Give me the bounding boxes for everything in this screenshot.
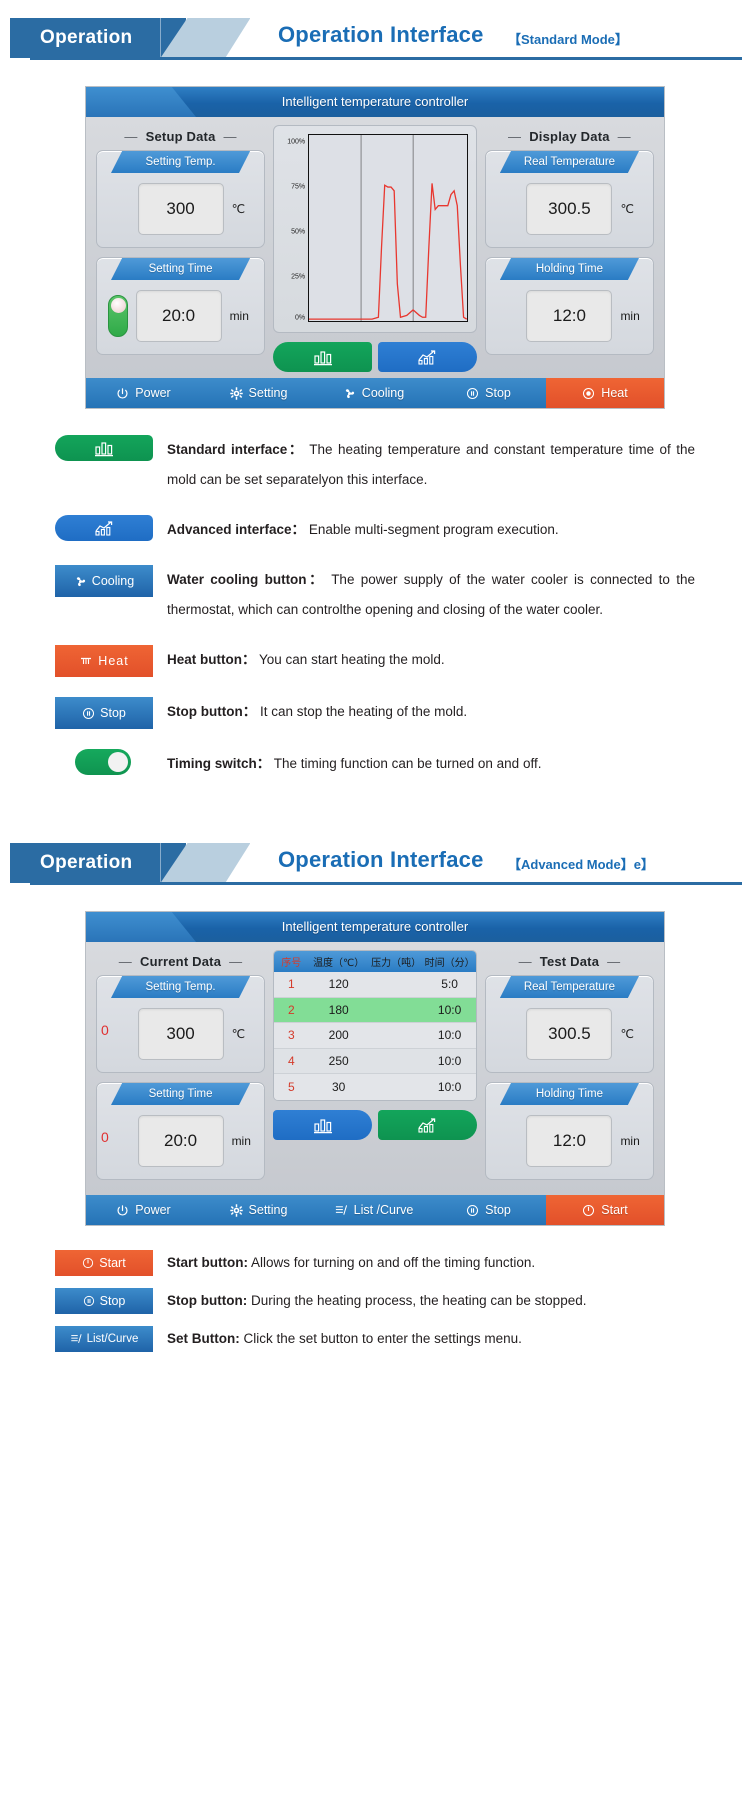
toolbar-stop-button[interactable]: Stop: [431, 378, 546, 408]
program-row-time: 10:0: [423, 1028, 475, 1042]
advanced-view-button-2[interactable]: [378, 1110, 477, 1140]
section-header-advanced: Operation Operation Interface 【Advanced …: [0, 837, 750, 889]
program-row-temp: 250: [308, 1054, 369, 1068]
legend-row-cooling: Cooling Water cooling button： The power …: [55, 565, 695, 625]
legend-body-stop-2: During the heating process, the heating …: [251, 1293, 586, 1308]
section-title: Operation Interface: [278, 22, 484, 48]
device-titlebar: Intelligent temperature controller: [86, 87, 664, 117]
setting-temp-value[interactable]: 300: [138, 183, 224, 235]
col-header-temp: 温度（℃）: [308, 954, 369, 969]
holding-time-card-2: Holding Time 12:0 min: [485, 1082, 654, 1180]
dash-right-3: —: [221, 954, 250, 969]
dash-left: —: [116, 129, 145, 144]
test-data-text: Test Data: [540, 954, 599, 969]
section-rule-2: [30, 882, 742, 885]
heat-icon: [79, 655, 93, 667]
gear-icon: [230, 387, 243, 400]
chart-mode-buttons: [273, 342, 477, 372]
table-row[interactable]: 320010:0: [274, 1023, 476, 1049]
toolbar-stop-label: Stop: [485, 386, 511, 400]
program-table-column: 序号 温度（℃） 压力（吨） 时间（分） 11205:0218010:03200…: [273, 950, 477, 1140]
stop-button-label-2: Stop: [100, 1294, 126, 1308]
holding-time-row-2: 12:0 min: [486, 1105, 653, 1169]
section-tag-wrap-2: Operation: [10, 843, 250, 883]
mode-main-2: 【Advanced Mode】: [508, 857, 634, 872]
real-temp-label-2: Real Temperature: [500, 976, 639, 998]
real-temp-row-2: 300.5 ℃: [486, 998, 653, 1062]
legend-body-heat: You can start heating the mold.: [259, 652, 445, 667]
toolbar-list-curve-label: List /Curve: [354, 1203, 414, 1217]
legend-badge-timing: [55, 749, 153, 775]
holding-time-unit-2: min: [620, 1134, 644, 1148]
chart-card: 100% 75% 50% 25% 0%: [273, 125, 477, 333]
dash-right-2: —: [610, 129, 639, 144]
holding-time-row: 12:0 min: [486, 280, 653, 344]
legend-text-heat: Heat button： You can start heating the m…: [167, 645, 695, 675]
legend-text-start: Start button: Allows for turning on and …: [167, 1250, 695, 1276]
toolbar-stop-button-2[interactable]: Stop: [431, 1195, 546, 1225]
stop-button-sample[interactable]: Stop: [55, 697, 153, 729]
start-button-label: Start: [99, 1256, 125, 1270]
setting-temp-prefix: 0: [101, 1022, 109, 1038]
start-icon: [582, 1204, 595, 1217]
program-row-no: 2: [274, 1003, 308, 1017]
dash-left-2: —: [500, 129, 529, 144]
chart-y-axis: 100% 75% 50% 25% 0%: [280, 134, 308, 322]
legend-row-start: Start Start button: Allows for turning o…: [55, 1250, 695, 1276]
toolbar-heat-label: Heat: [601, 386, 627, 400]
program-row-temp: 200: [308, 1028, 369, 1042]
legend-text-standard: Standard interface： The heating temperat…: [167, 435, 695, 495]
real-temp-card: Real Temperature 300.5 ℃: [485, 150, 654, 248]
chart-mode-buttons-2: [273, 1110, 477, 1140]
col-header-time: 时间（分）: [423, 954, 475, 969]
current-data-text: Current Data: [140, 954, 221, 969]
pause-icon: [83, 1295, 95, 1307]
setting-temp-label-2: Setting Temp.: [111, 976, 250, 998]
legend-body-advanced: Enable multi-segment program execution.: [309, 522, 559, 537]
toolbar-list-curve-button[interactable]: List /Curve: [316, 1195, 431, 1225]
display-data-text: Display Data: [529, 129, 609, 144]
legend-body-list-curve: Click the set button to enter the settin…: [244, 1331, 522, 1346]
legend-row-standard-interface: Standard interface： The heating temperat…: [55, 435, 695, 495]
device-toolbar-advanced: Power Setting: [86, 1195, 664, 1225]
real-temp-value-2: 300.5: [526, 1008, 612, 1060]
toolbar-cooling-button[interactable]: Cooling: [316, 378, 431, 408]
device-title-text-2: Intelligent temperature controller: [86, 912, 664, 942]
program-row-time: 10:0: [423, 1003, 475, 1017]
program-row-no: 5: [274, 1080, 308, 1094]
setup-data-text: Setup Data: [146, 129, 216, 144]
setting-temp-unit: ℃: [232, 202, 256, 216]
timing-toggle[interactable]: [108, 295, 128, 337]
toolbar-start-label: Start: [601, 1203, 627, 1217]
setting-time-unit-2: min: [232, 1134, 256, 1148]
test-data-column: —Test Data— Real Temperature 300.5 ℃ Hol…: [485, 950, 654, 1189]
mode-extra-2: e】: [634, 857, 654, 872]
legend-title-advanced: Advanced interface：: [167, 522, 305, 537]
trend-chart-icon: [93, 519, 115, 537]
program-table: 序号 温度（℃） 压力（吨） 时间（分） 11205:0218010:03200…: [273, 950, 477, 1101]
dash-left-4: —: [511, 954, 540, 969]
legend-badge-stop: Stop: [55, 697, 153, 729]
toolbar-power-label: Power: [135, 386, 170, 400]
bar-chart-icon: [312, 348, 334, 366]
setting-temp-label: Setting Temp.: [111, 151, 250, 173]
program-row-no: 4: [274, 1054, 308, 1068]
heat-button-sample[interactable]: Heat: [55, 645, 153, 677]
program-row-temp: 30: [308, 1080, 369, 1094]
setup-data-label: —Setup Data—: [96, 125, 265, 150]
toolbar-setting-button-2[interactable]: Setting: [201, 1195, 316, 1225]
y-tick-0: 0%: [295, 315, 305, 322]
current-data-label: —Current Data—: [96, 950, 265, 975]
setting-temp-unit-2: ℃: [232, 1027, 256, 1041]
device-panel-advanced: Intelligent temperature controller —Curr…: [85, 911, 665, 1226]
advanced-interface-pill[interactable]: [55, 515, 153, 541]
setting-temp-card-2[interactable]: Setting Temp. 0 300 ℃: [96, 975, 265, 1073]
legend-text-stop-2: Stop button: During the heating process,…: [167, 1288, 695, 1314]
chart-column: 100% 75% 50% 25% 0%: [273, 125, 477, 372]
legend-badge-standard: [55, 435, 153, 461]
legend-text-cooling: Water cooling button： The power supply o…: [167, 565, 695, 625]
list-curve-icon: [334, 1204, 348, 1217]
y-tick-50: 50%: [291, 228, 305, 235]
test-data-label: —Test Data—: [485, 950, 654, 975]
legend-title-start: Start button:: [167, 1255, 248, 1270]
list-curve-button-label: List/Curve: [87, 1333, 139, 1345]
device-titlebar-2: Intelligent temperature controller: [86, 912, 664, 942]
col-header-no: 序号: [274, 954, 308, 969]
holding-time-unit: min: [620, 309, 644, 323]
display-data-column: —Display Data— Real Temperature 300.5 ℃ …: [485, 125, 654, 364]
cooling-button-sample[interactable]: Cooling: [55, 565, 153, 597]
section-rule: [30, 57, 742, 60]
y-tick-25: 25%: [291, 273, 305, 280]
y-tick-75: 75%: [291, 183, 305, 190]
gear-icon: [230, 1204, 243, 1217]
real-temp-row: 300.5 ℃: [486, 173, 653, 237]
heat-icon: [582, 387, 595, 400]
temperature-series: [309, 183, 467, 319]
program-row-temp: 180: [308, 1003, 369, 1017]
program-row-no: 1: [274, 977, 308, 991]
start-icon: [82, 1257, 94, 1269]
device-body-2: —Current Data— Setting Temp. 0 300 ℃ Set…: [86, 942, 664, 1195]
program-table-body: 11205:0218010:0320010:0425010:053010:0: [274, 972, 476, 1100]
page-root: Operation Operation Interface 【Standard …: [0, 12, 750, 1404]
power-icon: [116, 1204, 129, 1217]
chart-svg: [309, 135, 467, 321]
legend-title-list-curve: Set Button:: [167, 1331, 240, 1346]
toolbar-start-button[interactable]: Start: [546, 1195, 664, 1225]
toolbar-stop-label-2: Stop: [485, 1203, 511, 1217]
legend-badge-advanced: [55, 515, 153, 541]
holding-time-value: 12:0: [526, 290, 612, 342]
legend-list-advanced: Start Start button: Allows for turning o…: [55, 1250, 695, 1352]
standard-view-button[interactable]: [273, 342, 372, 372]
legend-text-list-curve: Set Button: Click the set button to ente…: [167, 1326, 695, 1352]
fan-icon: [74, 575, 87, 588]
real-temp-value: 300.5: [526, 183, 612, 235]
toolbar-power-button-2[interactable]: Power: [86, 1195, 201, 1225]
setting-time-label: Setting Time: [111, 258, 250, 280]
trend-chart-icon: [416, 1116, 438, 1134]
setting-time-card[interactable]: Setting Time 20:0 min: [96, 257, 265, 355]
standard-view-button-2[interactable]: [273, 1110, 372, 1140]
table-row[interactable]: 11205:0: [274, 972, 476, 998]
device-toolbar-standard: Power Setting: [86, 378, 664, 408]
program-row-time: 5:0: [423, 977, 475, 991]
heat-button-label: Heat: [98, 654, 128, 668]
legend-body-stop: It can stop the heating of the mold.: [260, 704, 467, 719]
device-title-text: Intelligent temperature controller: [86, 87, 664, 117]
setting-time-label-2: Setting Time: [111, 1083, 250, 1105]
setting-temp-row-2: 0 300 ℃: [97, 998, 264, 1062]
toolbar-power-label-2: Power: [135, 1203, 170, 1217]
legend-row-advanced-interface: Advanced interface： Enable multi-segment…: [55, 515, 695, 545]
legend-row-list-curve: List/Curve Set Button: Click the set but…: [55, 1326, 695, 1352]
standard-interface-pill[interactable]: [55, 435, 153, 461]
legend-body-timing: The timing function can be turned on and…: [274, 756, 542, 771]
section-title-2: Operation Interface: [278, 847, 484, 873]
legend-row-stop-2: Stop Stop button: During the heating pro…: [55, 1288, 695, 1314]
legend-title-heat: Heat button：: [167, 652, 256, 667]
toolbar-setting-label: Setting: [249, 386, 288, 400]
real-temp-unit-2: ℃: [620, 1027, 644, 1041]
setting-time-prefix: 0: [101, 1129, 109, 1145]
section-header-standard: Operation Operation Interface 【Standard …: [0, 12, 750, 64]
holding-time-card: Holding Time 12:0 min: [485, 257, 654, 355]
trend-chart-icon: [416, 348, 438, 366]
dash-right: —: [216, 129, 245, 144]
pause-icon: [466, 387, 479, 400]
legend-text-advanced: Advanced interface： Enable multi-segment…: [167, 515, 695, 545]
y-tick-100: 100%: [287, 138, 305, 145]
legend-badge-cooling: Cooling: [55, 565, 153, 597]
setting-temp-card[interactable]: Setting Temp. 300 ℃: [96, 150, 265, 248]
start-button-sample[interactable]: Start: [55, 1250, 153, 1276]
section-tag-label: Operation: [10, 18, 160, 58]
real-temp-card-2: Real Temperature 300.5 ℃: [485, 975, 654, 1073]
program-row-time: 10:0: [423, 1080, 475, 1094]
timing-switch-sample[interactable]: [75, 749, 131, 775]
holding-time-label: Holding Time: [500, 258, 639, 280]
legend-badge-list-curve: List/Curve: [55, 1326, 153, 1352]
legend-body-start: Allows for turning on and off the timing…: [251, 1255, 535, 1270]
legend-row-heat: Heat Heat button： You can start heating …: [55, 645, 695, 677]
list-curve-icon: [70, 1333, 82, 1345]
legend-title-stop-2: Stop button:: [167, 1293, 247, 1308]
legend-badge-stop-2: Stop: [55, 1288, 153, 1314]
power-icon: [116, 387, 129, 400]
setup-data-column: —Setup Data— Setting Temp. 300 ℃ Setting…: [96, 125, 265, 364]
col-header-pressure: 压力（吨）: [369, 954, 423, 969]
section-tag-wrap: Operation: [10, 18, 250, 58]
stop-button-label: Stop: [100, 706, 126, 720]
pause-icon: [82, 707, 95, 720]
legend-list-standard: Standard interface： The heating temperat…: [55, 435, 695, 779]
program-row-no: 3: [274, 1028, 308, 1042]
section-mode-label-2: 【Advanced Mode】e】: [508, 854, 654, 873]
setting-temp-row: 300 ℃: [97, 173, 264, 237]
table-row[interactable]: 425010:0: [274, 1049, 476, 1075]
setting-time-row: 20:0 min: [97, 280, 264, 344]
holding-time-value-2: 12:0: [526, 1115, 612, 1167]
setting-time-value[interactable]: 20:0: [136, 290, 222, 342]
toolbar-heat-button[interactable]: Heat: [546, 378, 664, 408]
program-row-temp: 120: [308, 977, 369, 991]
chart-wrap: 100% 75% 50% 25% 0%: [280, 134, 468, 322]
program-row-time: 10:0: [423, 1054, 475, 1068]
legend-row-timing: Timing switch： The timing function can b…: [55, 749, 695, 779]
bar-chart-icon: [93, 439, 115, 457]
display-data-label: —Display Data—: [485, 125, 654, 150]
device-panel-standard: Intelligent temperature controller —Setu…: [85, 86, 665, 409]
legend-row-stop: Stop Stop button： It can stop the heatin…: [55, 697, 695, 729]
legend-title-timing: Timing switch：: [167, 756, 270, 771]
section-mode-label: 【Standard Mode】: [508, 29, 628, 48]
stop-button-sample-2[interactable]: Stop: [55, 1288, 153, 1314]
cooling-button-label: Cooling: [92, 574, 134, 588]
setting-time-row-2: 0 20:0 min: [97, 1105, 264, 1169]
bar-chart-icon: [312, 1116, 334, 1134]
chart-plot-area: [308, 134, 468, 322]
legend-title-standard: Standard interface：: [167, 442, 304, 457]
pause-icon: [466, 1204, 479, 1217]
toolbar-setting-button[interactable]: Setting: [201, 378, 316, 408]
legend-badge-heat: Heat: [55, 645, 153, 677]
dash-right-4: —: [599, 954, 628, 969]
table-row[interactable]: 218010:0: [274, 998, 476, 1024]
fan-icon: [343, 387, 356, 400]
section-tag-label-2: Operation: [10, 843, 160, 883]
holding-time-label-2: Holding Time: [500, 1083, 639, 1105]
legend-title-stop: Stop button：: [167, 704, 256, 719]
program-table-header: 序号 温度（℃） 压力（吨） 时间（分）: [274, 951, 476, 972]
toolbar-power-button[interactable]: Power: [86, 378, 201, 408]
current-data-column: —Current Data— Setting Temp. 0 300 ℃ Set…: [96, 950, 265, 1189]
toolbar-setting-label-2: Setting: [249, 1203, 288, 1217]
table-row[interactable]: 53010:0: [274, 1074, 476, 1100]
legend-text-stop: Stop button： It can stop the heating of …: [167, 697, 695, 727]
real-temp-label: Real Temperature: [500, 151, 639, 173]
setting-time-card-2[interactable]: Setting Time 0 20:0 min: [96, 1082, 265, 1180]
toolbar-cooling-label: Cooling: [362, 386, 404, 400]
advanced-view-button[interactable]: [378, 342, 477, 372]
dash-left-3: —: [111, 954, 140, 969]
setting-temp-value-2[interactable]: 300: [138, 1008, 224, 1060]
legend-text-timing: Timing switch： The timing function can b…: [167, 749, 695, 779]
list-curve-button-sample[interactable]: List/Curve: [55, 1326, 153, 1352]
legend-title-cooling: Water cooling button：: [167, 572, 325, 587]
setting-time-value-2[interactable]: 20:0: [138, 1115, 224, 1167]
device-body: —Setup Data— Setting Temp. 300 ℃ Setting…: [86, 117, 664, 378]
legend-badge-start: Start: [55, 1250, 153, 1276]
real-temp-unit: ℃: [620, 202, 644, 216]
setting-time-unit: min: [230, 309, 254, 323]
